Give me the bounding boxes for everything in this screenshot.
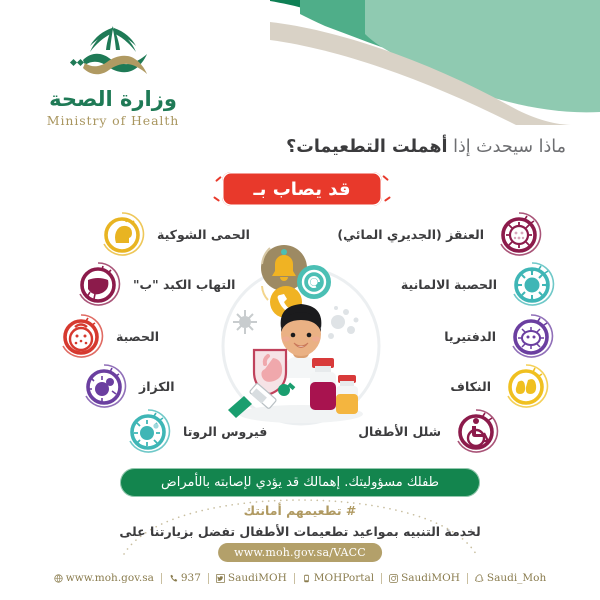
phone-icon [169,574,178,583]
page-title: ماذا سيحدث إذا أهملت التطعيمات؟ [286,137,566,157]
logo-arabic-text: وزارة الصحة [28,88,198,111]
badge-tick-icon [382,175,389,181]
may-be-infected-badge: قد يصاب بـ [222,172,382,206]
disease-label: النكاف [450,379,491,394]
chickenpox-virus-icon [493,208,545,260]
badge-label: قد يصاب بـ [222,172,382,206]
badge-tick-icon [215,176,222,182]
disease-label: الكزاز [139,379,175,394]
rotavirus-icon [122,405,174,457]
snapchat-icon [475,574,484,583]
infographic-poster: وزارة الصحة Ministry of Health ماذا سيحد… [0,0,600,600]
disease-label: الحصبة الالمانية [401,277,497,292]
disease-node-diphtheria[interactable]: الدفتيريا [444,310,557,362]
globe-icon [54,574,63,583]
footer-subline: لخدمة التنبيه بمواعيد تطعيمات الأطفال تف… [0,524,600,539]
social-label: 937 [181,572,201,584]
rubella-virus-icon [506,258,558,310]
social-link-app[interactable]: MOHPortal [295,572,381,584]
twitter-icon [216,574,225,583]
social-label: SaudiMOH [401,572,460,584]
logo-mark-icon [43,24,183,86]
diphtheria-bacteria-icon [505,310,557,362]
disease-label: العنقز (الجديري المائي) [337,227,484,242]
vaccination-url-button[interactable]: www.moh.gov.sa/VACC [218,543,382,562]
wheelchair-polio-icon [450,405,502,457]
social-label: SaudiMOH [228,572,287,584]
disease-node-chickenpox[interactable]: العنقز (الجديري المائي) [337,208,545,260]
social-label: MOHPortal [314,572,374,584]
mumps-icon [500,360,552,412]
ministry-of-health-logo: وزارة الصحة Ministry of Health [28,24,198,128]
disease-label: الحصبة [116,329,159,344]
social-link-phone[interactable]: 937 [162,572,208,584]
disease-label: شلل الأطفال [358,424,441,439]
responsibility-banner: طفلك مسؤوليتك. إهمالك قد يؤدي لإصابته با… [120,468,480,497]
disease-node-measles[interactable]: الحصبة [55,310,159,362]
social-label: www.moh.gov.sa [66,572,154,584]
social-link-instagram[interactable]: SaudiMOH [382,572,467,584]
logo-english-text: Ministry of Health [28,113,198,128]
measles-face-icon [55,310,107,362]
disease-label: فيروس الروتا [183,424,267,439]
headline-prefix: ماذا سيحدث إذا [448,137,566,157]
disease-label: التهاب الكبد "ب" [133,277,235,292]
social-link-snapchat[interactable]: Saudi_Moh [468,572,553,584]
disease-node-meningitis[interactable]: الحمى الشوكية [96,208,250,260]
liver-icon [72,258,124,310]
badge-tick-icon [213,196,220,202]
header-swoosh-decoration [270,0,600,125]
social-label: Saudi_Moh [487,572,546,584]
headline-strong: أهملت التطعيمات؟ [286,137,447,157]
disease-node-rotavirus[interactable]: فيروس الروتا [122,405,267,457]
disease-node-hepatitis-b[interactable]: التهاب الكبد "ب" [72,258,235,310]
disease-node-polio[interactable]: شلل الأطفال [358,405,502,457]
instagram-icon [389,574,398,583]
badge-tick-icon [384,196,391,202]
head-meningitis-icon [96,208,148,260]
social-link-twitter[interactable]: SaudiMOH [209,572,294,584]
campaign-hashtag: # تطعيمهم أمانتك [0,503,600,518]
social-links-row: www.moh.gov.sa 937 SaudiMOH MOHPortal [0,572,600,584]
center-illustration [218,238,384,433]
disease-label: الحمى الشوكية [157,227,250,242]
disease-node-rubella[interactable]: الحصبة الالمانية [401,258,558,310]
disease-label: الدفتيريا [444,329,496,344]
social-link-website[interactable]: www.moh.gov.sa [47,572,161,584]
app-icon [302,574,311,583]
